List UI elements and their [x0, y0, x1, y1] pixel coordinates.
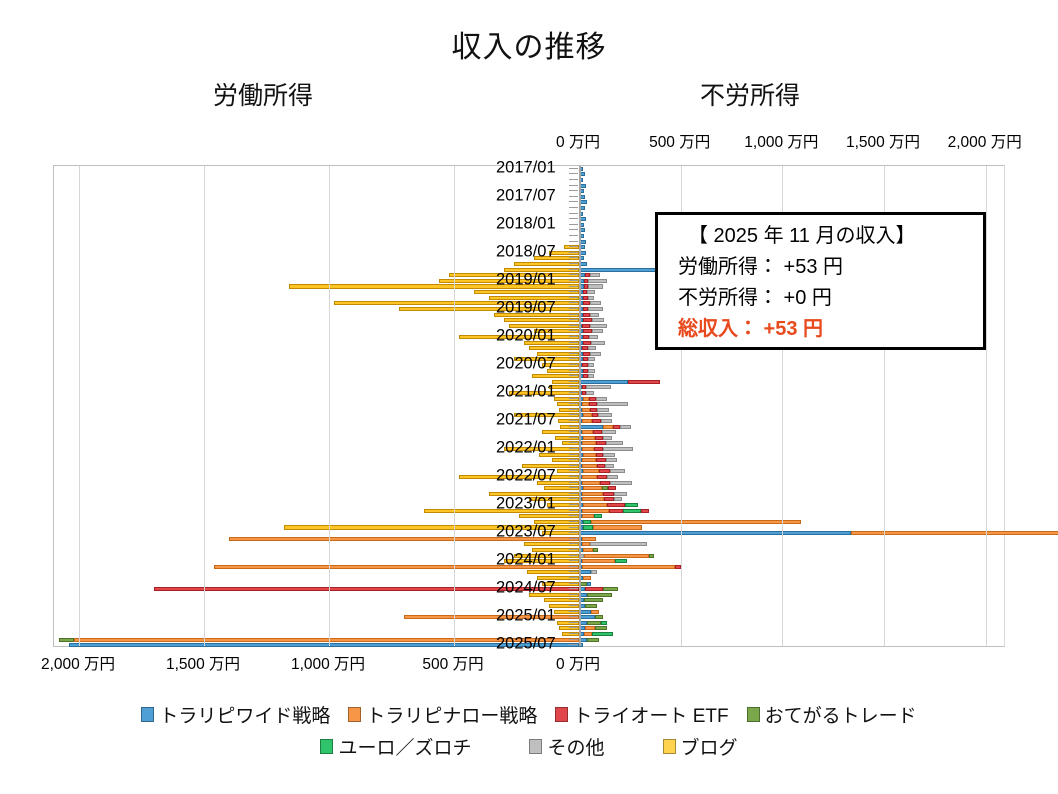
bar-segment-left-yellow[interactable] — [564, 245, 579, 249]
bar-segment-red[interactable] — [583, 329, 592, 333]
bar-row — [54, 178, 1004, 182]
legend-swatch-yellow — [663, 739, 676, 754]
bar-segment-kgreen[interactable] — [583, 520, 591, 524]
bar-segment-orange[interactable] — [583, 413, 592, 417]
bar-segment-left-yellow[interactable] — [524, 341, 579, 345]
legend-item-kgreen[interactable]: ユーロ／ズロチ — [320, 733, 471, 760]
bar-segment-kgreen[interactable] — [592, 632, 612, 636]
bar-segment-blue[interactable] — [587, 582, 591, 586]
bar-segment-gray[interactable] — [590, 542, 647, 546]
bar-segment-gray[interactable] — [588, 374, 593, 378]
bar-segment-orange[interactable] — [582, 447, 594, 451]
bar-row — [54, 413, 1004, 417]
bar-segment-red[interactable] — [608, 486, 617, 490]
bar-segment-left-yellow[interactable] — [532, 548, 580, 552]
bar-segment-gray[interactable] — [601, 419, 612, 423]
axis-top-tick: 1,000 万円 — [744, 130, 818, 152]
bar-segment-orange[interactable] — [583, 436, 595, 440]
bar-row — [54, 503, 1004, 507]
bar-segment-orange[interactable] — [591, 610, 598, 614]
bar-row — [54, 475, 1004, 479]
bar-segment-left-yellow[interactable] — [558, 419, 579, 423]
bar-segment-gray[interactable] — [598, 413, 612, 417]
bar-segment-left-yellow[interactable] — [534, 520, 579, 524]
bar-segment-left-yellow[interactable] — [557, 469, 580, 473]
bar-segment-green[interactable] — [593, 548, 598, 552]
bar-segment-red[interactable] — [596, 453, 603, 457]
bar-segment-orange[interactable] — [582, 458, 596, 462]
bar-segment-green[interactable] — [649, 554, 654, 558]
bar-segment-left-yellow[interactable] — [514, 554, 579, 558]
bar-segment-blue[interactable] — [579, 380, 628, 384]
legend-label: トラリピナロー戦略 — [366, 701, 537, 728]
bar-segment-orange[interactable] — [582, 514, 594, 518]
bar-segment-left-yellow[interactable] — [542, 582, 580, 586]
bar-row — [54, 397, 1004, 401]
chart-title: 収入の推移 — [0, 22, 1058, 66]
bar-segment-orange[interactable] — [582, 481, 600, 485]
bar-segment-orange[interactable] — [582, 509, 608, 513]
bar-segment-left-yellow[interactable] — [514, 262, 579, 266]
bar-segment-left-yellow[interactable] — [547, 503, 580, 507]
bar-segment-orange[interactable] — [582, 565, 676, 569]
gridline — [329, 166, 330, 646]
subtitle-labor-income: 労働所得 — [213, 76, 313, 112]
bar-segment-orange[interactable] — [583, 576, 591, 580]
bar-segment-left-orange[interactable] — [214, 565, 579, 569]
bar-row — [54, 458, 1004, 462]
bar-segment-orange[interactable] — [583, 469, 600, 473]
bar-segment-orange[interactable] — [583, 548, 593, 552]
bar-segment-left-yellow[interactable] — [439, 279, 579, 283]
bar-segment-orange[interactable] — [582, 559, 615, 563]
bar-row — [54, 352, 1004, 356]
bar-row — [54, 576, 1004, 580]
bar-segment-left-yellow[interactable] — [509, 324, 579, 328]
bar-segment-orange[interactable] — [582, 464, 597, 468]
callout-heading: 【 2025 年 11 月の収入】 — [658, 221, 983, 252]
legend-label: トラリピワイド戦略 — [159, 701, 330, 728]
bar-segment-left-yellow[interactable] — [542, 363, 580, 367]
bar-segment-red[interactable] — [596, 458, 606, 462]
bar-segment-green[interactable] — [584, 598, 602, 602]
bar-segment-left-orange[interactable] — [404, 615, 579, 619]
bar-row — [54, 610, 1004, 614]
bar-segment-gray[interactable] — [610, 481, 632, 485]
bar-segment-left-yellow[interactable] — [514, 357, 579, 361]
chart-root: 収入の推移 労働所得 不労所得 0 万円500 万円1,000 万円1,500 … — [0, 0, 1058, 794]
bar-segment-orange[interactable] — [582, 402, 589, 406]
axis-bottom-labels: 2,000 万円1,500 万円1,000 万円500 万円0 万円 — [0, 652, 1058, 676]
bar-segment-left-yellow[interactable] — [289, 284, 579, 288]
bar-segment-red[interactable] — [607, 503, 625, 507]
bar-segment-left-yellow[interactable] — [529, 593, 579, 597]
bar-row — [54, 453, 1004, 457]
bar-segment-gray[interactable] — [603, 453, 615, 457]
bar-segment-red[interactable] — [603, 492, 614, 496]
bar-segment-left-yellow[interactable] — [489, 492, 579, 496]
bar-segment-kgreen[interactable] — [601, 621, 607, 625]
bar-segment-gray[interactable] — [588, 346, 596, 350]
bar-row — [54, 486, 1004, 490]
legend-swatch-green — [747, 707, 760, 722]
legend-item-gray[interactable]: その他 — [529, 733, 604, 760]
legend-label: ユーロ／ズロチ — [338, 733, 471, 760]
bar-segment-gray[interactable] — [603, 436, 612, 440]
bar-segment-red[interactable] — [628, 380, 661, 384]
bar-segment-gray[interactable] — [614, 497, 622, 501]
bar-row — [54, 520, 1004, 524]
bar-segment-red[interactable] — [592, 419, 601, 423]
bar-segment-left-orange[interactable] — [74, 638, 579, 642]
bar-segment-green[interactable] — [587, 638, 599, 642]
bar-segment-gray[interactable] — [597, 408, 609, 412]
bar-segment-orange[interactable] — [582, 408, 590, 412]
axis-top-labels: 0 万円500 万円1,000 万円1,500 万円2,000 万円 — [0, 130, 1058, 154]
legend-swatch-kgreen — [320, 739, 333, 754]
bar-segment-left-yellow[interactable] — [534, 256, 579, 260]
bar-segment-orange[interactable] — [584, 554, 649, 558]
bar-row — [54, 374, 1004, 378]
bar-segment-left-yellow[interactable] — [504, 268, 579, 272]
bar-row — [54, 554, 1004, 558]
bar-segment-red[interactable] — [599, 469, 610, 473]
bar-segment-red[interactable] — [589, 397, 596, 401]
bar-row — [54, 514, 1004, 518]
bar-segment-left-yellow[interactable] — [562, 632, 580, 636]
bar-segment-left-yellow[interactable] — [557, 402, 580, 406]
bar-row — [54, 447, 1004, 451]
bar-row — [54, 369, 1004, 373]
bar-row — [54, 548, 1004, 552]
bar-segment-left-yellow[interactable] — [559, 408, 579, 412]
bar-segment-gray[interactable] — [587, 290, 595, 294]
bar-segment-orange[interactable] — [582, 492, 602, 496]
bar-segment-gray[interactable] — [605, 464, 614, 468]
bar-segment-orange[interactable] — [582, 537, 596, 541]
bar-row — [54, 184, 1004, 188]
bar-segment-orange[interactable] — [582, 475, 597, 479]
bar-row — [54, 481, 1004, 485]
bar-segment-left-yellow[interactable] — [494, 313, 579, 317]
bar-row — [54, 598, 1004, 602]
legend-swatch-orange — [348, 707, 361, 722]
bar-segment-left-yellow[interactable] — [557, 621, 580, 625]
bar-segment-left-yellow[interactable] — [519, 514, 579, 518]
bar-segment-left-yellow[interactable] — [504, 447, 579, 451]
chart-legend: トラリピワイド戦略トラリピナロー戦略トライオート ETFおてがるトレード ユーロ… — [0, 698, 1058, 762]
bar-segment-red[interactable] — [589, 402, 597, 406]
bar-segment-left-yellow[interactable] — [529, 497, 579, 501]
bar-segment-red[interactable] — [613, 425, 621, 429]
bar-segment-red[interactable] — [594, 447, 603, 451]
gridline — [204, 166, 205, 646]
bar-segment-blue[interactable] — [579, 615, 595, 619]
bar-segment-green[interactable] — [603, 587, 617, 591]
bar-row — [54, 643, 1004, 647]
bar-segment-left-yellow[interactable] — [504, 318, 579, 322]
axis-top-tick: 500 万円 — [649, 130, 710, 152]
bar-row — [54, 380, 1004, 384]
gridline — [454, 166, 455, 646]
callout-total-income: 総収入： +53 円 — [658, 314, 983, 345]
bar-segment-gray[interactable] — [588, 307, 603, 311]
bar-row — [54, 425, 1004, 429]
bar-segment-left-yellow[interactable] — [532, 374, 580, 378]
bar-segment-left-yellow[interactable] — [544, 598, 579, 602]
legend-label: ブログ — [681, 733, 738, 760]
bar-row — [54, 559, 1004, 563]
bar-segment-gray[interactable] — [606, 458, 617, 462]
bar-row — [54, 419, 1004, 423]
bar-segment-left-yellow[interactable] — [514, 413, 579, 417]
bar-row — [54, 441, 1004, 445]
bar-segment-left-yellow[interactable] — [537, 481, 580, 485]
bar-segment-green[interactable] — [587, 593, 611, 597]
bar-segment-left-yellow[interactable] — [334, 301, 579, 305]
bar-segment-orange[interactable] — [583, 503, 607, 507]
bar-segment-left-yellow[interactable] — [547, 369, 580, 373]
bar-segment-left-yellow[interactable] — [527, 570, 580, 574]
bar-segment-red[interactable] — [597, 475, 606, 479]
bar-segment-left-yellow[interactable] — [552, 458, 580, 462]
bar-segment-left-yellow[interactable] — [542, 531, 580, 535]
bar-row — [54, 195, 1004, 199]
bar-segment-orange[interactable] — [585, 626, 595, 630]
bar-segment-kgreen[interactable] — [623, 509, 641, 513]
bar-segment-left-yellow[interactable] — [560, 425, 579, 429]
legend-swatch-gray — [529, 739, 542, 754]
legend-label: その他 — [547, 733, 604, 760]
bar-segment-blue[interactable] — [579, 610, 591, 614]
bar-segment-red[interactable] — [585, 587, 603, 591]
bar-segment-left-yellow[interactable] — [555, 436, 579, 440]
bar-row — [54, 391, 1004, 395]
bar-segment-green[interactable] — [595, 626, 607, 630]
bar-segment-orange[interactable] — [582, 497, 604, 501]
bar-segment-gray[interactable] — [588, 284, 602, 288]
bar-row — [54, 357, 1004, 361]
bar-segment-left-yellow[interactable] — [509, 391, 579, 395]
bar-segment-green[interactable] — [587, 621, 601, 625]
bar-segment-blue[interactable] — [579, 531, 851, 535]
bar-segment-gray[interactable] — [610, 469, 624, 473]
bar-segment-gray[interactable] — [596, 397, 607, 401]
bar-segment-left-yellow[interactable] — [529, 346, 579, 350]
bar-segment-kgreen[interactable] — [615, 559, 627, 563]
callout-labor-income: 労働所得： +53 円 — [658, 252, 983, 283]
bar-segment-orange[interactable] — [584, 632, 592, 636]
bar-segment-green[interactable] — [595, 615, 603, 619]
bar-segment-kgreen[interactable] — [625, 503, 637, 507]
bar-segment-left-yellow[interactable] — [552, 380, 580, 384]
subtitle-passive-income: 不労所得 — [700, 76, 800, 112]
bar-segment-red[interactable] — [583, 318, 591, 322]
bar-segment-red[interactable] — [604, 497, 614, 501]
bar-segment-orange[interactable] — [591, 520, 800, 524]
bar-row — [54, 167, 1004, 171]
bar-row — [54, 604, 1004, 608]
bar-segment-left-yellow[interactable] — [524, 542, 579, 546]
axis-bottom-tick: 2,000 万円 — [41, 652, 115, 674]
bar-segment-left-yellow[interactable] — [549, 385, 579, 389]
bar-row — [54, 408, 1004, 412]
bar-segment-red[interactable] — [600, 481, 610, 485]
bar-segment-left-yellow[interactable] — [534, 329, 579, 333]
bar-segment-gray[interactable] — [591, 570, 597, 574]
bar-segment-gray[interactable] — [606, 441, 622, 445]
bar-segment-left-yellow[interactable] — [539, 453, 579, 457]
axis-top-tick: 2,000 万円 — [948, 130, 1022, 152]
bar-segment-orange[interactable] — [593, 525, 642, 529]
bar-segment-left-orange[interactable] — [229, 537, 579, 541]
income-summary-callout: 【 2025 年 11 月の収入】 労働所得： +53 円 不労所得： +0 円… — [655, 212, 986, 350]
bar-segment-left-green[interactable] — [59, 638, 74, 642]
bar-segment-red[interactable] — [593, 430, 602, 434]
bar-segment-gray[interactable] — [588, 357, 595, 361]
bar-segment-left-yellow[interactable] — [562, 441, 580, 445]
bar-segment-gray[interactable] — [607, 475, 618, 479]
bar-segment-gray[interactable] — [588, 279, 606, 283]
bar-segment-left-yellow[interactable] — [474, 290, 579, 294]
bar-row — [54, 582, 1004, 586]
bar-segment-orange[interactable] — [583, 486, 602, 490]
bar-segment-gray[interactable] — [591, 341, 604, 345]
bar-segment-left-red[interactable] — [154, 587, 579, 591]
bar-segment-gray[interactable] — [590, 313, 599, 317]
bar-segment-orange[interactable] — [583, 453, 596, 457]
bar-segment-left-yellow[interactable] — [459, 335, 579, 339]
bar-row — [54, 363, 1004, 367]
bar-row — [54, 469, 1004, 473]
bar-segment-left-yellow[interactable] — [537, 352, 580, 356]
bar-segment-orange[interactable] — [582, 419, 592, 423]
bar-segment-red[interactable] — [641, 509, 649, 513]
bar-segment-left-yellow[interactable] — [559, 626, 579, 630]
legend-swatch-red — [555, 707, 568, 722]
bar-row — [54, 621, 1004, 625]
bar-row — [54, 537, 1004, 541]
bar-segment-orange[interactable] — [603, 425, 612, 429]
bar-segment-gray[interactable] — [586, 385, 610, 389]
bar-segment-left-yellow[interactable] — [449, 273, 579, 277]
bar-segment-orange[interactable] — [582, 441, 595, 445]
bar-row — [54, 430, 1004, 434]
bar-segment-left-yellow[interactable] — [522, 464, 580, 468]
bar-segment-red[interactable] — [583, 352, 590, 356]
bar-segment-green[interactable] — [585, 604, 597, 608]
bar-row — [54, 638, 1004, 642]
bar-segment-left-blue[interactable] — [69, 643, 579, 647]
axis-bottom-tick: 1,000 万円 — [291, 652, 365, 674]
bar-segment-red[interactable] — [583, 341, 591, 345]
bar-row — [54, 570, 1004, 574]
bar-segment-gray[interactable] — [603, 447, 634, 451]
legend-item-yellow[interactable]: ブログ — [663, 733, 738, 760]
bar-row — [54, 525, 1004, 529]
bar-segment-orange[interactable] — [582, 542, 590, 546]
bar-row — [54, 531, 1004, 535]
bar-segment-blue[interactable] — [579, 570, 591, 574]
legend-item-red[interactable]: トライオート ETF — [555, 701, 728, 728]
bar-row — [54, 402, 1004, 406]
bar-row — [54, 593, 1004, 597]
bar-segment-red[interactable] — [609, 509, 623, 513]
bar-segment-gray[interactable] — [588, 363, 594, 367]
bar-row — [54, 509, 1004, 513]
bar-segment-left-yellow[interactable] — [544, 486, 579, 490]
bar-segment-gray[interactable] — [589, 335, 598, 339]
bar-row — [54, 626, 1004, 630]
bar-segment-left-yellow[interactable] — [542, 430, 580, 434]
legend-row-2: ユーロ／ズロチその他ブログ — [0, 730, 1058, 762]
bar-row — [54, 385, 1004, 389]
gridline — [79, 166, 80, 646]
legend-item-green[interactable]: おてがるトレード — [747, 701, 917, 728]
bar-segment-red[interactable] — [597, 464, 605, 468]
bar-segment-gray[interactable] — [597, 402, 628, 406]
bar-row — [54, 615, 1004, 619]
bar-segment-red[interactable] — [582, 324, 589, 328]
legend-label: トライオート ETF — [573, 701, 728, 728]
bar-segment-left-yellow[interactable] — [554, 397, 579, 401]
axis-top-tick: 1,500 万円 — [846, 130, 920, 152]
bar-segment-left-yellow[interactable] — [549, 604, 579, 608]
bar-row — [54, 587, 1004, 591]
bar-segment-left-yellow[interactable] — [424, 509, 579, 513]
bar-row — [54, 492, 1004, 496]
bar-segment-kgreen[interactable] — [583, 525, 593, 529]
bar-segment-left-yellow[interactable] — [459, 475, 579, 479]
bar-segment-left-yellow[interactable] — [399, 307, 579, 311]
bar-segment-gray[interactable] — [590, 324, 608, 328]
bar-segment-red[interactable] — [596, 441, 607, 445]
zero-axis-line — [579, 166, 581, 646]
bar-segment-gray[interactable] — [620, 425, 630, 429]
bar-segment-red[interactable] — [595, 436, 603, 440]
bar-row — [54, 206, 1004, 210]
legend-item-orange[interactable]: トラリピナロー戦略 — [348, 701, 537, 728]
axis-bottom-tick: 0 万円 — [556, 652, 600, 674]
bar-segment-left-yellow[interactable] — [537, 576, 580, 580]
bar-segment-gray[interactable] — [590, 301, 602, 305]
bar-segment-gray[interactable] — [588, 369, 595, 373]
bar-segment-red[interactable] — [590, 408, 597, 412]
bar-segment-gray[interactable] — [586, 391, 594, 395]
bar-segment-left-yellow[interactable] — [504, 559, 579, 563]
bar-segment-gray[interactable] — [592, 329, 604, 333]
bar-segment-gray[interactable] — [588, 296, 594, 300]
bar-segment-gray[interactable] — [590, 352, 601, 356]
bar-segment-left-yellow[interactable] — [489, 296, 579, 300]
bar-row — [54, 200, 1004, 204]
bar-row — [54, 632, 1004, 636]
bar-segment-left-yellow[interactable] — [554, 610, 579, 614]
bar-segment-kgreen[interactable] — [594, 514, 602, 518]
legend-item-blue[interactable]: トラリピワイド戦略 — [141, 701, 330, 728]
bar-row — [54, 172, 1004, 176]
bar-segment-gray[interactable] — [614, 492, 627, 496]
bar-row — [54, 189, 1004, 193]
bar-segment-gray[interactable] — [602, 430, 615, 434]
bar-segment-left-yellow[interactable] — [549, 251, 579, 255]
bar-segment-orange[interactable] — [851, 531, 1058, 535]
bar-segment-gray[interactable] — [590, 273, 599, 277]
bar-segment-blue[interactable] — [579, 425, 603, 429]
bar-segment-red[interactable] — [583, 313, 590, 317]
bar-segment-gray[interactable] — [592, 318, 604, 322]
bar-segment-orange[interactable] — [582, 430, 593, 434]
